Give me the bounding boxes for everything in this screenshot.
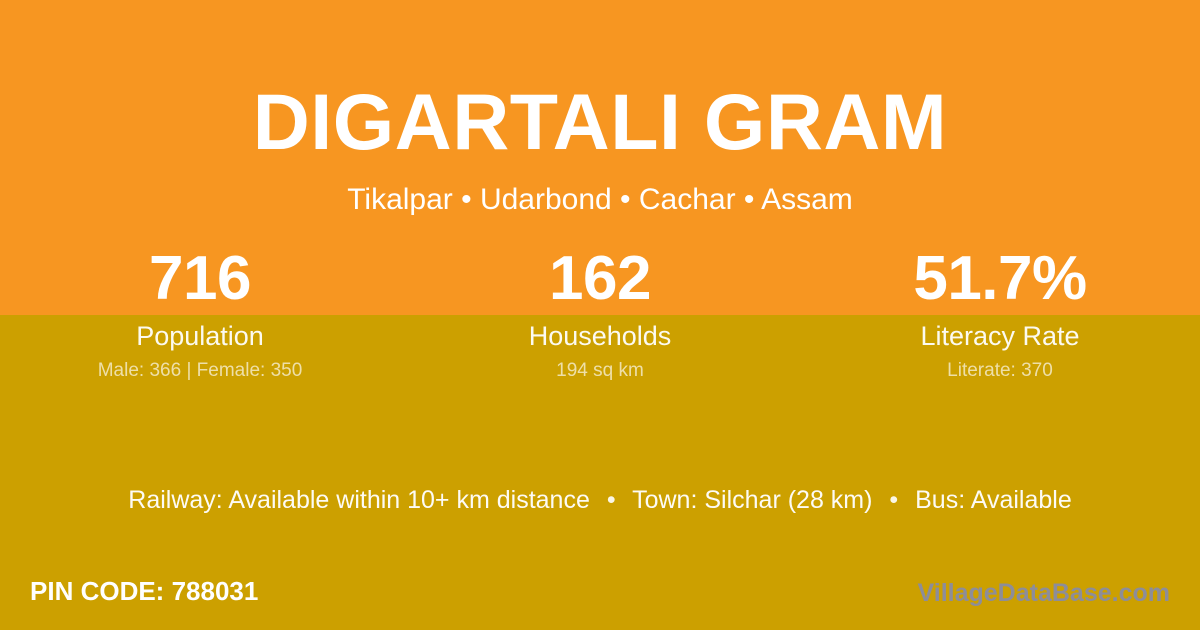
amenity-bus: Bus: Available <box>915 486 1072 514</box>
amenity-railway: Railway: Available within 10+ km distanc… <box>128 486 590 514</box>
site-brand: VillageDataBase.com <box>918 578 1170 608</box>
amenities-line: Railway: Available within 10+ km distanc… <box>0 485 1200 515</box>
bullet-separator-icon: • <box>597 485 626 515</box>
stat-households-label: Households <box>400 321 800 351</box>
stat-households-value: 162 <box>400 248 800 310</box>
stat-population-label: Population <box>0 321 400 351</box>
bullet-separator-icon: • <box>879 485 908 515</box>
stat-population-value: 716 <box>0 248 400 310</box>
stat-households-area: 194 sq km <box>400 360 800 382</box>
stat-literacy: 51.7% Literacy Rate Literate: 370 <box>800 248 1200 382</box>
amenity-town: Town: Silchar (28 km) <box>632 486 872 514</box>
stat-population: 716 Population Male: 366 | Female: 350 <box>0 248 400 382</box>
village-info-card: DIGARTALI GRAM Tikalpar • Udarbond • Cac… <box>0 0 1200 630</box>
stat-population-breakdown: Male: 366 | Female: 350 <box>0 360 400 382</box>
stat-literacy-label: Literacy Rate <box>800 321 1200 351</box>
stats-row: 716 Population Male: 366 | Female: 350 1… <box>0 248 1200 382</box>
page-title: DIGARTALI GRAM <box>0 82 1200 161</box>
stat-literacy-value: 51.7% <box>800 248 1200 310</box>
pin-code: PIN CODE: 788031 <box>30 575 258 607</box>
stat-literacy-count: Literate: 370 <box>800 360 1200 382</box>
location-breadcrumb: Tikalpar • Udarbond • Cachar • Assam <box>0 182 1200 218</box>
stat-households: 162 Households 194 sq km <box>400 248 800 382</box>
